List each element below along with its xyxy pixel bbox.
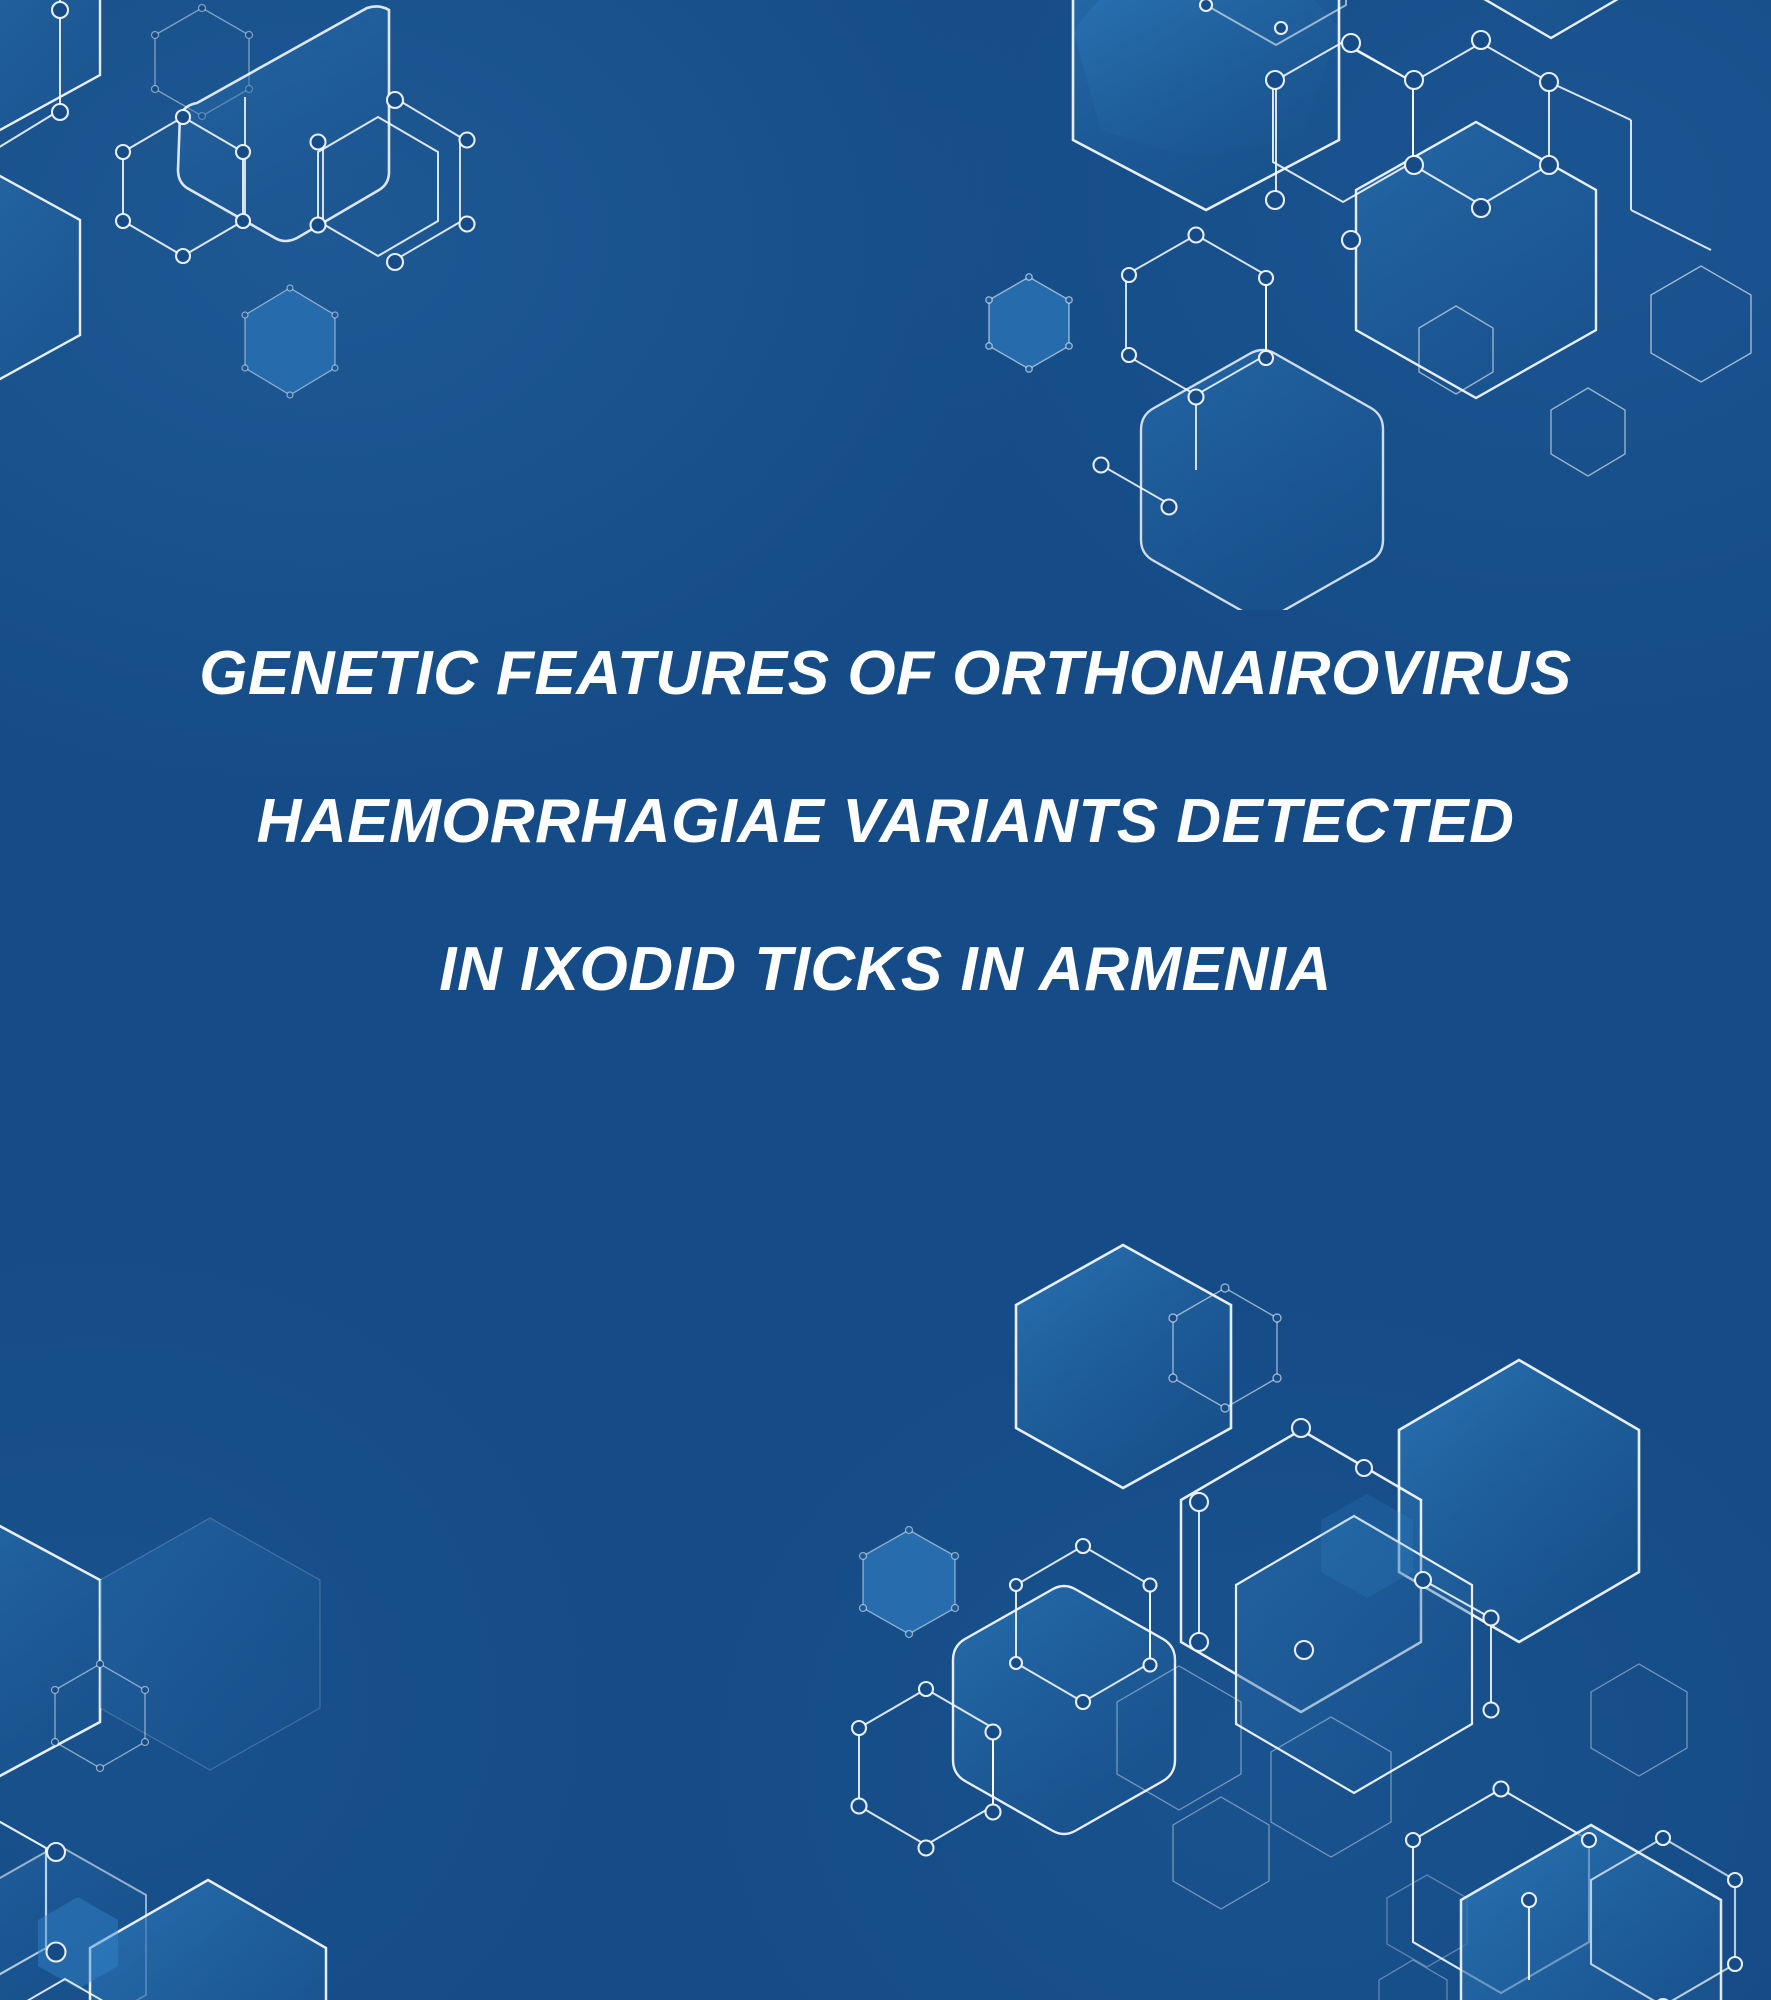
poster-title: GENETIC FEATURES OF ORTHONAIROVIRUS HAEM… (0, 600, 1771, 1044)
poster-canvas: GENETIC FEATURES OF ORTHONAIROVIRUS HAEM… (0, 0, 1771, 2000)
hexagon-network-bottom-right (801, 1240, 1771, 2000)
title-line-3: IN IXODID TICKS IN ARMENIA (110, 896, 1661, 1044)
hexagon-network-top-left (0, 0, 560, 530)
hexagon-network-bottom-left (0, 1440, 470, 2000)
hexagon-network-top-right (951, 0, 1771, 610)
title-line-1: GENETIC FEATURES OF ORTHONAIROVIRUS (110, 600, 1661, 748)
title-line-2: HAEMORRHAGIAE VARIANTS DETECTED (110, 748, 1661, 896)
